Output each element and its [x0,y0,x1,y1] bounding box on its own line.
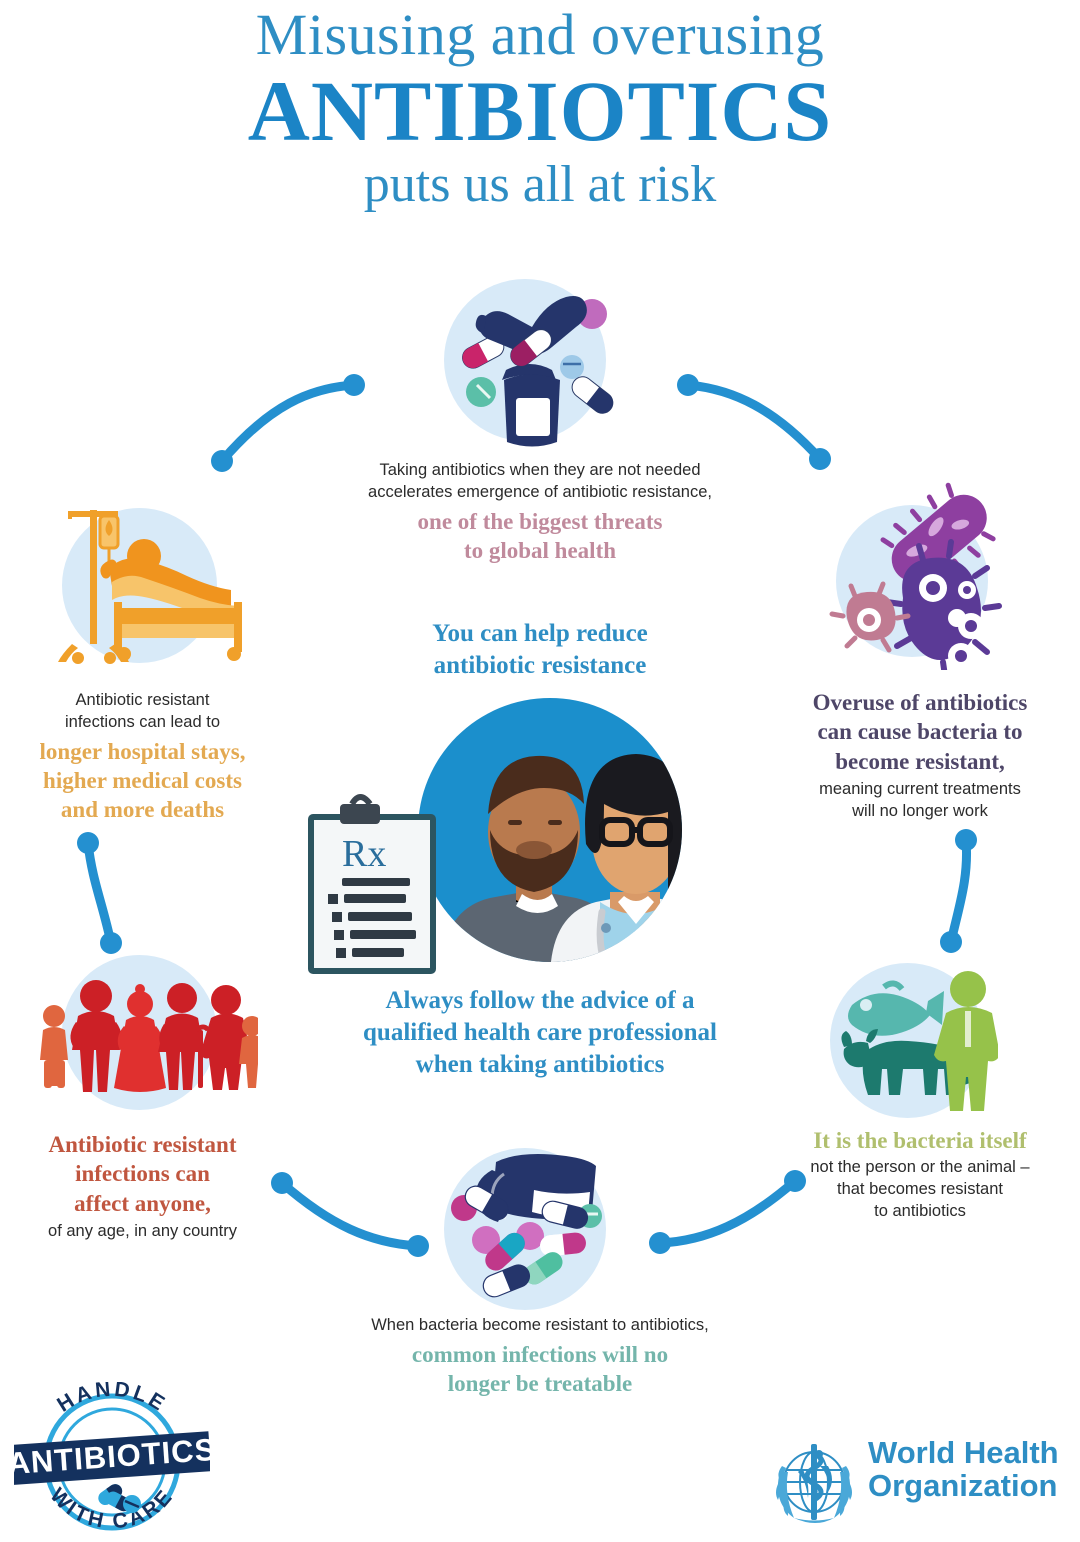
infographic-page: Misusing and overusing ANTIBIOTICS puts … [0,0,1080,1542]
title-line-1: Misusing and overusing [0,6,1080,64]
bottom-center-text: When bacteria become resistant to antibi… [290,1315,790,1399]
handle-antibiotics-with-care-badge: HANDLE WITH CARE ANTIBIOTICS [14,1382,210,1534]
hand-taking-pill-from-bottle-icon [444,272,616,448]
top-center-plain-2: accelerates emergence of antibiotic resi… [290,482,790,504]
right-top-highlight-2: can cause bacteria to [760,717,1080,746]
center-heading: You can help reduce antibiotic resistanc… [290,618,790,682]
right-top-plain-1: meaning current treatments [760,779,1080,801]
left-top-plain-2: infections can lead to [0,712,285,734]
right-bottom-text: It is the bacteria itself not the person… [760,1126,1080,1223]
top-center-text: Taking antibiotics when they are not nee… [290,460,790,565]
left-bottom-highlight-1: Antibiotic resistant [0,1130,285,1159]
top-center-highlight-1: one of the biggest threats [290,507,790,536]
center-caption-line-3: when taking antibiotics [290,1049,790,1081]
title-line-2: ANTIBIOTICS [0,66,1080,156]
left-top-highlight-1: longer hospital stays, [0,737,285,766]
right-bottom-highlight-1: It is the bacteria itself [760,1126,1080,1155]
doctor-and-patient-with-prescription-icon: Rx [300,680,740,980]
left-bottom-plain-1: of any age, in any country [0,1221,285,1243]
right-top-text: Overuse of antibiotics can cause bacteri… [760,688,1080,823]
who-name-line-2: Organization [868,1469,1059,1502]
who-wordmark: World Health Organization [868,1436,1059,1503]
left-top-plain-1: Antibiotic resistant [0,690,285,712]
right-bottom-plain-1: not the person or the animal – [760,1157,1080,1179]
left-bottom-highlight-2: infections can [0,1159,285,1188]
bottom-center-plain-1: When bacteria become resistant to antibi… [290,1315,790,1337]
right-top-highlight-3: become resistant, [760,747,1080,776]
spilled-pill-bottle-icon [438,1140,616,1316]
top-center-plain-1: Taking antibiotics when they are not nee… [290,460,790,482]
center-caption-line-2: qualified health care professional [290,1017,790,1049]
right-bottom-plain-2: that becomes resistant [760,1179,1080,1201]
top-center-highlight-2: to global health [290,536,790,565]
fish-cow-person-icon [830,963,998,1113]
left-bottom-text: Antibiotic resistant infections can affe… [0,1130,285,1243]
bottom-center-highlight-1: common infections will no [290,1340,790,1369]
group-of-people-all-ages-icon [30,968,258,1093]
center-caption-line-1: Always follow the advice of a [290,985,790,1017]
right-bottom-plain-3: to antibiotics [760,1201,1080,1223]
who-name-line-1: World Health [868,1436,1059,1469]
center-heading-line-2: antibiotic resistance [290,650,790,682]
left-top-highlight-2: higher medical costs [0,766,285,795]
right-top-highlight-1: Overuse of antibiotics [760,688,1080,717]
left-bottom-highlight-3: affect anyone, [0,1189,285,1218]
bacteria-microbes-icon [825,478,1025,670]
badge-banner-text: ANTIBIOTICS [14,1432,210,1481]
bottom-center-highlight-2: longer be treatable [290,1369,790,1398]
hospital-bed-iv-drip-icon [52,498,247,678]
right-top-plain-2: will no longer work [760,801,1080,823]
badge-top-text: HANDLE [53,1382,171,1417]
left-top-text: Antibiotic resistant infections can lead… [0,690,285,825]
clipboard-rx-symbol: Rx [342,833,386,875]
left-top-highlight-3: and more deaths [0,795,285,824]
center-heading-line-1: You can help reduce [290,618,790,650]
center-caption: Always follow the advice of a qualified … [290,985,790,1081]
title-line-3: puts us all at risk [0,158,1080,213]
page-title: Misusing and overusing ANTIBIOTICS puts … [0,6,1080,213]
